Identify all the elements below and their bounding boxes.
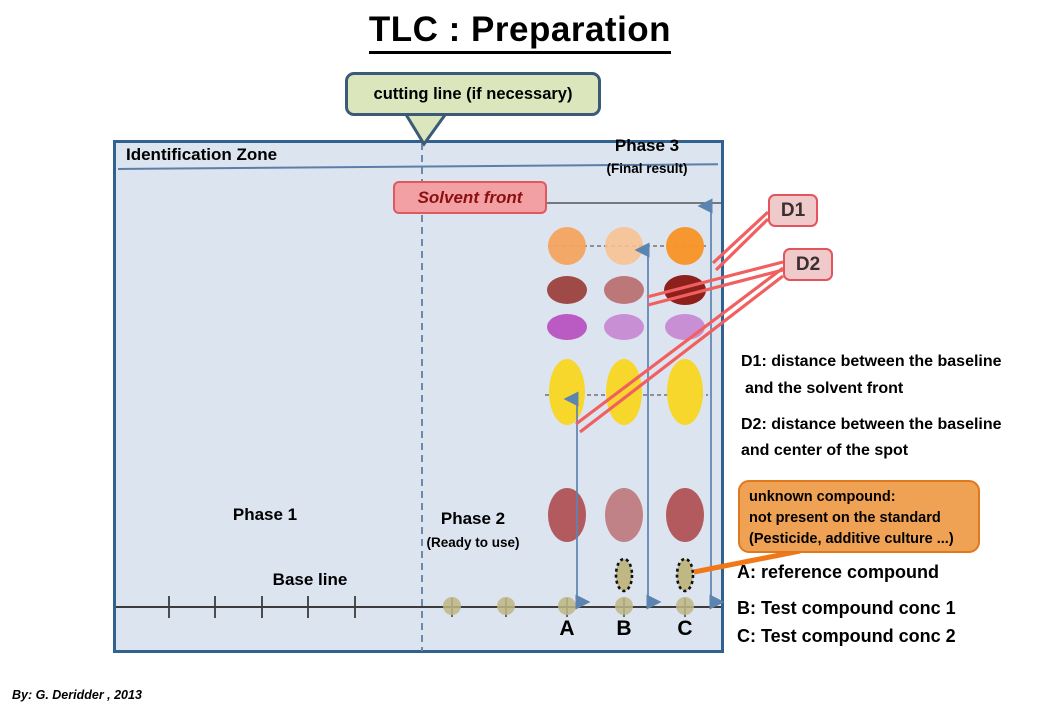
column-label-b: B	[609, 617, 639, 641]
spot-c-rose	[666, 488, 704, 542]
spot-row-yellow	[549, 359, 703, 425]
spot-b-darkred	[604, 276, 644, 304]
phase3-label: Phase 3	[592, 136, 702, 156]
column-label-a: A	[552, 617, 582, 641]
spot-a-purple	[547, 314, 587, 340]
unknown-spot-b	[616, 559, 632, 591]
spot-row-orange	[548, 227, 704, 265]
legend-item-a: A: reference compound	[737, 562, 939, 583]
solvent-front-label: Solvent front	[418, 188, 523, 208]
unknown-spot-c	[677, 559, 693, 591]
unknown-compound-line3: (Pesticide, additive culture ...)	[749, 529, 969, 550]
spot-row-purple	[547, 314, 705, 340]
spot-a-rose	[548, 488, 586, 542]
spot-c-purple	[665, 314, 705, 340]
d1-description-line2: and the solvent front	[745, 380, 903, 398]
d1-badge: D1	[768, 194, 818, 227]
d2-badge-label: D2	[796, 254, 820, 276]
unknown-compound-line2: not present on the standard	[749, 508, 969, 529]
d2-description-line2: and center of the spot	[741, 442, 908, 460]
d1-description-line1: D1: distance between the baseline	[741, 353, 1002, 371]
baseline-label: Base line	[225, 570, 395, 590]
column-label-c: C	[670, 617, 700, 641]
phase3-sublabel: (Final result)	[592, 161, 702, 176]
unknown-compound-line1: unknown compound:	[749, 487, 969, 508]
solvent-front-badge: Solvent front	[393, 181, 547, 214]
spot-row-rose	[548, 488, 704, 542]
spot-c-orange	[666, 227, 704, 265]
legend-item-c: C: Test compound conc 2	[737, 626, 956, 647]
spot-b-rose	[605, 488, 643, 542]
unknown-compound-callout: unknown compound: not present on the sta…	[738, 480, 980, 553]
spot-b-yellow	[606, 359, 642, 425]
spot-b-orange	[605, 227, 643, 265]
d1-connector-lines	[713, 212, 768, 270]
phase1-label: Phase 1	[175, 505, 355, 525]
legend-item-b: B: Test compound conc 1	[737, 598, 956, 619]
spot-a-orange	[548, 227, 586, 265]
spot-a-yellow	[549, 359, 585, 425]
phase2-sublabel: (Ready to use)	[398, 535, 548, 550]
spot-c-yellow	[667, 359, 703, 425]
cutting-line-callout: cutting line (if necessary)	[345, 72, 601, 116]
attribution: By: G. Deridder , 2013	[12, 688, 142, 702]
d1-badge-label: D1	[781, 200, 805, 222]
cutting-line-callout-label: cutting line (if necessary)	[374, 85, 573, 104]
identification-zone-label: Identification Zone	[126, 145, 277, 165]
spot-a-darkred	[547, 276, 587, 304]
d2-badge: D2	[783, 248, 833, 281]
unknown-compound-spots	[616, 559, 693, 591]
d2-description-line1: D2: distance between the baseline	[741, 416, 1002, 434]
spot-row-darkred	[547, 275, 706, 305]
spot-b-purple	[604, 314, 644, 340]
phase2-label: Phase 2	[398, 509, 548, 529]
